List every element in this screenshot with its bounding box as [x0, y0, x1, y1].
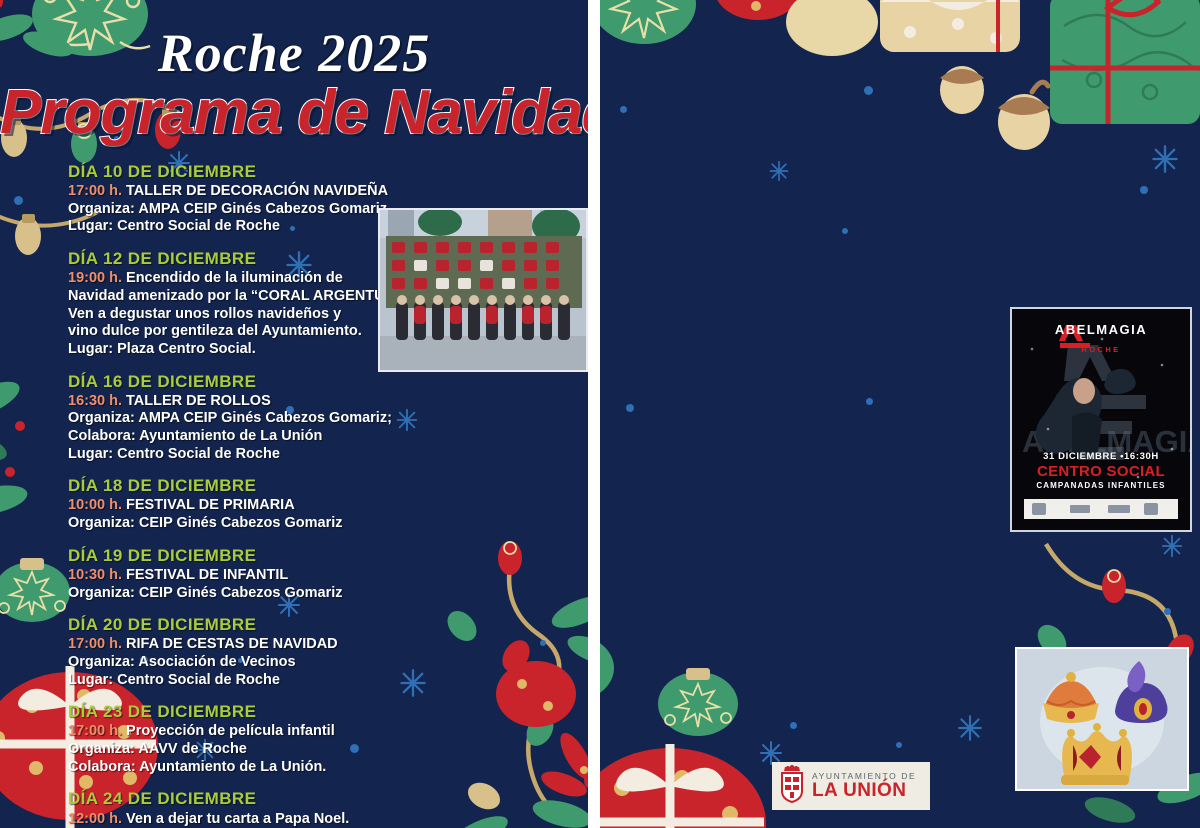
event-day-heading: DÍA 19 DE DICIEMBRE: [68, 546, 538, 566]
event-line: Colabora: Ayuntamiento de La Unión.: [68, 759, 538, 777]
panel-divider: [588, 0, 600, 828]
event-line: Organiza: CEIP Ginés Cabezos Gomariz: [68, 585, 538, 603]
snowflake-icon: [768, 160, 790, 182]
event-text: Ven a degustar unos rollos navideños y: [68, 306, 341, 322]
event-text: FESTIVAL DE PRIMARIA: [122, 497, 295, 513]
event-line: 17:00 h. RIFA DE CESTAS DE NAVIDAD: [68, 636, 538, 654]
event-day-heading: DÍA 24 DE DICIEMBRE: [68, 789, 538, 809]
event-text: Organiza: CEIP Ginés Cabezos Gomariz: [68, 585, 343, 601]
logo-line-2: LA UNIÓN: [812, 781, 916, 800]
abelmagia-brand: ABELMAGIA: [1055, 322, 1147, 337]
snow-dot: [790, 722, 797, 729]
event-block: DÍA 16 DE DICIEMBRE16:30 h. TALLER DE RO…: [68, 372, 538, 464]
event-text: TALLER DE ROLLOS: [122, 393, 271, 409]
left-panel: Roche 2025 Programa de Navidad: [0, 0, 588, 828]
coat-of-arms-icon: [779, 765, 805, 808]
abelmagia-date: 31 DICIEMBRE •16:30H: [1012, 451, 1190, 463]
event-block: DÍA 18 DE DICIEMBRE10:00 h. FESTIVAL DE …: [68, 476, 538, 532]
event-time: 17:00 h.: [68, 636, 122, 652]
event-text: Lugar: Centro Social de Roche: [68, 446, 280, 462]
event-time: 16:30 h.: [68, 393, 122, 409]
snow-dot: [842, 228, 848, 234]
snow-dot: [620, 106, 627, 113]
abelmagia-event: CAMPANADAS INFANTILES: [1012, 481, 1190, 491]
snow-dot: [626, 404, 634, 412]
event-text: Ven a dejar tu carta a Papa Noel.: [122, 811, 349, 827]
event-line: 10:30 h. FESTIVAL DE INFANTIL: [68, 567, 538, 585]
gift-decor-top: [850, 0, 1200, 130]
event-day-heading: DÍA 10 DE DICIEMBRE: [68, 162, 538, 182]
snowflake-icon: [1160, 534, 1184, 558]
event-text: Colabora: Ayuntamiento de La Unión: [68, 428, 322, 444]
ornament-decor-top-right-panel: [600, 0, 880, 100]
event-line: Organiza: AAVV de Roche: [68, 741, 538, 759]
event-time: 10:00 h.: [68, 497, 122, 513]
event-text: RIFA DE CESTAS DE NAVIDAD: [122, 636, 338, 652]
snow-dot: [540, 640, 546, 646]
title-line-programa: Programa de Navidad: [0, 82, 588, 144]
event-text: TALLER DE DECORACIÓN NAVIDEÑA: [122, 183, 388, 199]
event-text: vino dulce por gentileza del Ayuntamient…: [68, 323, 362, 339]
event-line: 12:00 h. Ven a dejar tu carta a Papa Noe…: [68, 811, 538, 828]
event-day-heading: DÍA 16 DE DICIEMBRE: [68, 372, 538, 392]
ayuntamiento-logo: AYUNTAMIENTO DE LA UNIÓN: [772, 762, 930, 810]
event-line: 16:30 h. TALLER DE ROLLOS: [68, 393, 538, 411]
event-time: 17:00 h.: [68, 183, 122, 199]
choir-photo: [378, 208, 588, 372]
event-text: Proyección de película infantil: [122, 723, 335, 739]
event-text: Organiza: Asociación de Vecinos: [68, 654, 296, 670]
poster-headline: Roche 2025 Programa de Navidad: [0, 26, 588, 144]
abelmagia-brand-sub: ROCHE: [1081, 345, 1120, 354]
event-block: DÍA 19 DE DICIEMBRE10:30 h. FESTIVAL DE …: [68, 546, 538, 602]
event-text: Encendido de la iluminación de: [122, 270, 343, 286]
snow-dot: [1140, 186, 1148, 194]
event-text: Organiza: AAVV de Roche: [68, 741, 247, 757]
event-day-heading: DÍA 23 DE DICIEMBRE: [68, 702, 538, 722]
event-text: Organiza: CEIP Ginés Cabezos Gomariz: [68, 515, 343, 531]
event-time: 17:00 h.: [68, 723, 122, 739]
event-line: Organiza: CEIP Ginés Cabezos Gomariz: [68, 515, 538, 533]
snow-dot: [864, 86, 873, 95]
event-line: Colabora: Ayuntamiento de La Unión: [68, 428, 538, 446]
snowflake-icon: [1150, 144, 1180, 174]
event-block: DÍA 20 DE DICIEMBRE17:00 h. RIFA DE CEST…: [68, 615, 538, 689]
snow-dot: [14, 196, 23, 205]
logo-line-1: AYUNTAMIENTO DE: [812, 772, 916, 781]
three-kings-image: [1015, 647, 1189, 791]
title-line-roche: Roche 2025: [0, 26, 588, 80]
event-line: 10:00 h. FESTIVAL DE PRIMARIA: [68, 497, 538, 515]
abelmagia-venue: CENTRO SOCIAL: [1012, 463, 1190, 481]
event-text: FESTIVAL DE INFANTIL: [122, 567, 288, 583]
event-line: 17:00 h. Proyección de película infantil: [68, 723, 538, 741]
event-text: Navidad amenizado por la “CORAL ARGENTUM…: [68, 288, 408, 304]
event-text: Organiza: AMPA CEIP Ginés Cabezos Gomari…: [68, 410, 392, 426]
christmas-program-poster: Roche 2025 Programa de Navidad: [0, 0, 1200, 828]
snowflake-icon: [956, 714, 984, 742]
event-line: Lugar: Centro Social de Roche: [68, 446, 538, 464]
event-line: Lugar: Centro Social de Roche: [68, 672, 538, 690]
event-line: Organiza: AMPA CEIP Ginés Cabezos Gomari…: [68, 410, 538, 428]
event-text: Colabora: Ayuntamiento de La Unión.: [68, 759, 326, 775]
event-day-heading: DÍA 18 DE DICIEMBRE: [68, 476, 538, 496]
event-line: Organiza: Asociación de Vecinos: [68, 654, 538, 672]
event-time: 12:00 h.: [68, 811, 122, 827]
abelmagia-poster-image: ABELMAGIA: [1010, 307, 1192, 532]
snow-dot: [1164, 608, 1171, 615]
event-day-heading: DÍA 20 DE DICIEMBRE: [68, 615, 538, 635]
snow-dot: [866, 398, 873, 405]
event-text: Organiza: AMPA CEIP Ginés Cabezos Gomari…: [68, 201, 387, 217]
event-time: 10:30 h.: [68, 567, 122, 583]
event-text: Lugar: Plaza Centro Social.: [68, 341, 256, 357]
event-text: Lugar: Centro Social de Roche: [68, 218, 280, 234]
snow-dot: [896, 742, 902, 748]
event-line: 17:00 h. TALLER DE DECORACIÓN NAVIDEÑA: [68, 183, 538, 201]
event-text: Lugar: Centro Social de Roche: [68, 672, 280, 688]
event-block: DÍA 24 DE DICIEMBRE12:00 h. Ven a dejar …: [68, 789, 538, 828]
event-time: 19:00 h.: [68, 270, 122, 286]
event-block: DÍA 23 DE DICIEMBRE17:00 h. Proyección d…: [68, 702, 538, 776]
acorn-decor: [928, 24, 1068, 154]
